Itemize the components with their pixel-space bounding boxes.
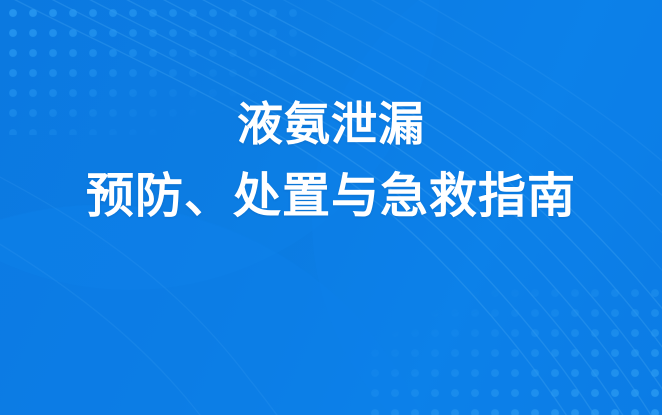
dot-pattern-bottom-right (362, 280, 662, 415)
title-line-primary: 液氨泄漏 (0, 95, 662, 154)
title-block: 液氨泄漏 预防、处置与急救指南 (0, 95, 662, 227)
title-line-secondary: 预防、处置与急救指南 (0, 166, 662, 227)
title-banner: 液氨泄漏 预防、处置与急救指南 (0, 0, 662, 415)
